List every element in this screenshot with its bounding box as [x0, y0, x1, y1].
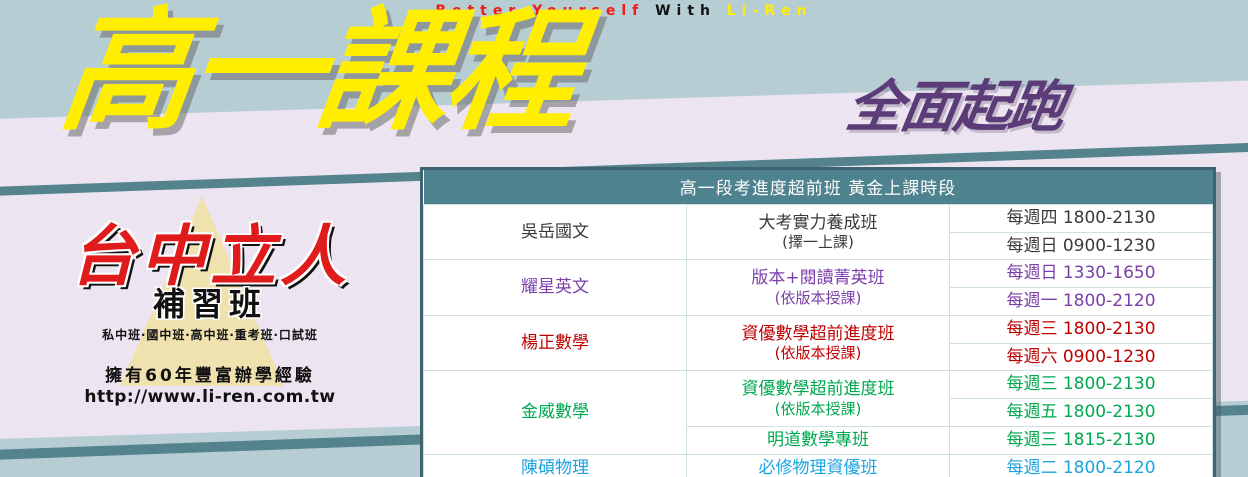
cell-teacher: 楊正數學: [424, 315, 687, 370]
tagline-word-4: Li-Ren: [727, 3, 813, 19]
promo-banner: Better Yourself With Li-Ren 高一課程 全面起跑 台中…: [0, 0, 1248, 477]
table-row: 金威數學資優數學超前進度班(依版本授課)每週三 1800-2130: [424, 371, 1213, 399]
logo-class-list: 私中班‧國中班‧高中班‧重考班‧口試班: [30, 326, 390, 343]
schedule-table: 高一段考進度超前班 黃金上課時段 吳岳國文大考實力養成班(擇一上課)每週四 18…: [423, 170, 1213, 477]
logo-name: 台中立人: [30, 222, 390, 291]
cell-teacher: 耀星英文: [424, 260, 687, 315]
cell-course: 版本+閱讀菁英班(依版本授課): [687, 260, 950, 315]
cell-course: 必修物理資優班: [687, 454, 950, 477]
table-header-row: 高一段考進度超前班 黃金上課時段: [424, 170, 1213, 205]
schedule-table-body: 吳岳國文大考實力養成班(擇一上課)每週四 1800-2130每週日 0900-1…: [424, 205, 1213, 477]
cell-course-note: (擇一上課): [689, 233, 947, 251]
cell-course: 資優數學超前進度班(依版本授課): [687, 315, 950, 370]
cell-time: 每週三 1815-2130: [950, 426, 1213, 454]
cell-time: 每週六 0900-1230: [950, 343, 1213, 371]
logo-website-url[interactable]: http://www.li-ren.com.tw: [30, 387, 390, 407]
cell-time: 每週三 1800-2130: [950, 371, 1213, 399]
cell-course-note: (依版本授課): [689, 289, 947, 307]
logo-experience: 擁有60年豐富辦學經驗: [30, 361, 390, 386]
cell-course-secondary: 明道數學專班: [687, 426, 950, 454]
cell-teacher: 陳碩物理: [424, 454, 687, 477]
cell-teacher: 吳岳國文: [424, 205, 687, 260]
brand-logo: 台中立人 補習班 私中班‧國中班‧高中班‧重考班‧口試班 擁有60年豐富辦學經驗…: [30, 222, 390, 407]
cell-time: 每週五 1800-2130: [950, 399, 1213, 427]
page-subtitle: 全面起跑: [842, 62, 1071, 143]
table-row: 陳碩物理必修物理資優班每週二 1800-2120: [424, 454, 1213, 477]
cell-time: 每週日 1330-1650: [950, 260, 1213, 288]
cell-teacher: 金威數學: [424, 371, 687, 454]
cell-time: 每週一 1800-2120: [950, 288, 1213, 316]
schedule-header-title: 高一段考進度超前班 黃金上課時段: [424, 170, 1213, 205]
table-row: 吳岳國文大考實力養成班(擇一上課)每週四 1800-2130: [424, 205, 1213, 233]
cell-time: 每週三 1800-2130: [950, 315, 1213, 343]
page-title: 高一課程: [54, 6, 582, 138]
cell-time: 每週二 1800-2120: [950, 454, 1213, 477]
cell-time: 每週日 0900-1230: [950, 232, 1213, 260]
table-row: 耀星英文版本+閱讀菁英班(依版本授課)每週日 1330-1650: [424, 260, 1213, 288]
cell-course-note: (依版本授課): [689, 344, 947, 362]
cell-course: 資優數學超前進度班(依版本授課): [687, 371, 950, 426]
schedule-table-container: 高一段考進度超前班 黃金上課時段 吳岳國文大考實力養成班(擇一上課)每週四 18…: [420, 167, 1216, 477]
cell-course-note: (依版本授課): [689, 400, 947, 418]
cell-time: 每週四 1800-2130: [950, 205, 1213, 233]
tagline-word-3: With: [655, 3, 716, 19]
table-row: 楊正數學資優數學超前進度班(依版本授課)每週三 1800-2130: [424, 315, 1213, 343]
cell-course: 大考實力養成班(擇一上課): [687, 205, 950, 260]
